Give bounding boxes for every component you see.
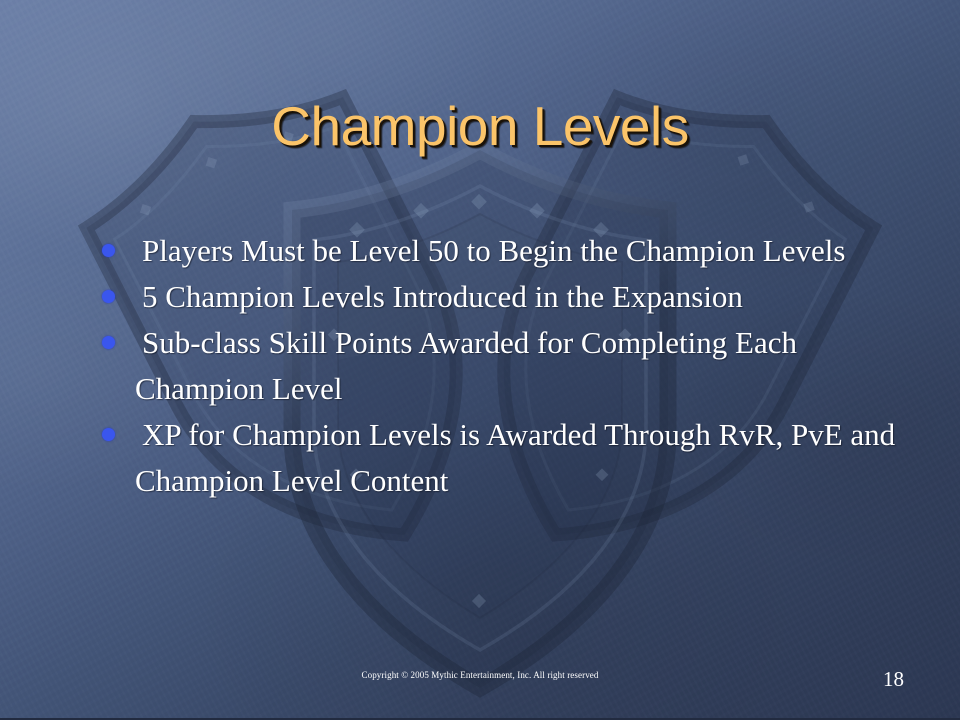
bullet-marker-icon	[102, 290, 115, 303]
bullet-marker-icon	[102, 428, 115, 441]
copyright-notice: Copyright © 2005 Mythic Entertainment, I…	[0, 669, 960, 681]
list-item-text: XP for Champion Levels is Awarded Throug…	[135, 412, 906, 504]
list-item: Players Must be Level 50 to Begin the Ch…	[96, 228, 906, 274]
list-item: XP for Champion Levels is Awarded Throug…	[96, 412, 906, 504]
list-item: Sub-class Skill Points Awarded for Compl…	[96, 320, 906, 412]
bullet-list: Players Must be Level 50 to Begin the Ch…	[96, 228, 906, 504]
bullet-marker-icon	[102, 336, 115, 349]
list-item-text: Sub-class Skill Points Awarded for Compl…	[135, 320, 906, 412]
list-item-text: 5 Champion Levels Introduced in the Expa…	[135, 274, 906, 320]
page-number: 18	[883, 666, 904, 692]
list-item: 5 Champion Levels Introduced in the Expa…	[96, 274, 906, 320]
slide-title: Champion Levels	[0, 96, 960, 156]
list-item-text: Players Must be Level 50 to Begin the Ch…	[135, 228, 906, 274]
bullet-marker-icon	[102, 244, 115, 257]
presentation-slide: Champion Levels Players Must be Level 50…	[0, 0, 960, 720]
